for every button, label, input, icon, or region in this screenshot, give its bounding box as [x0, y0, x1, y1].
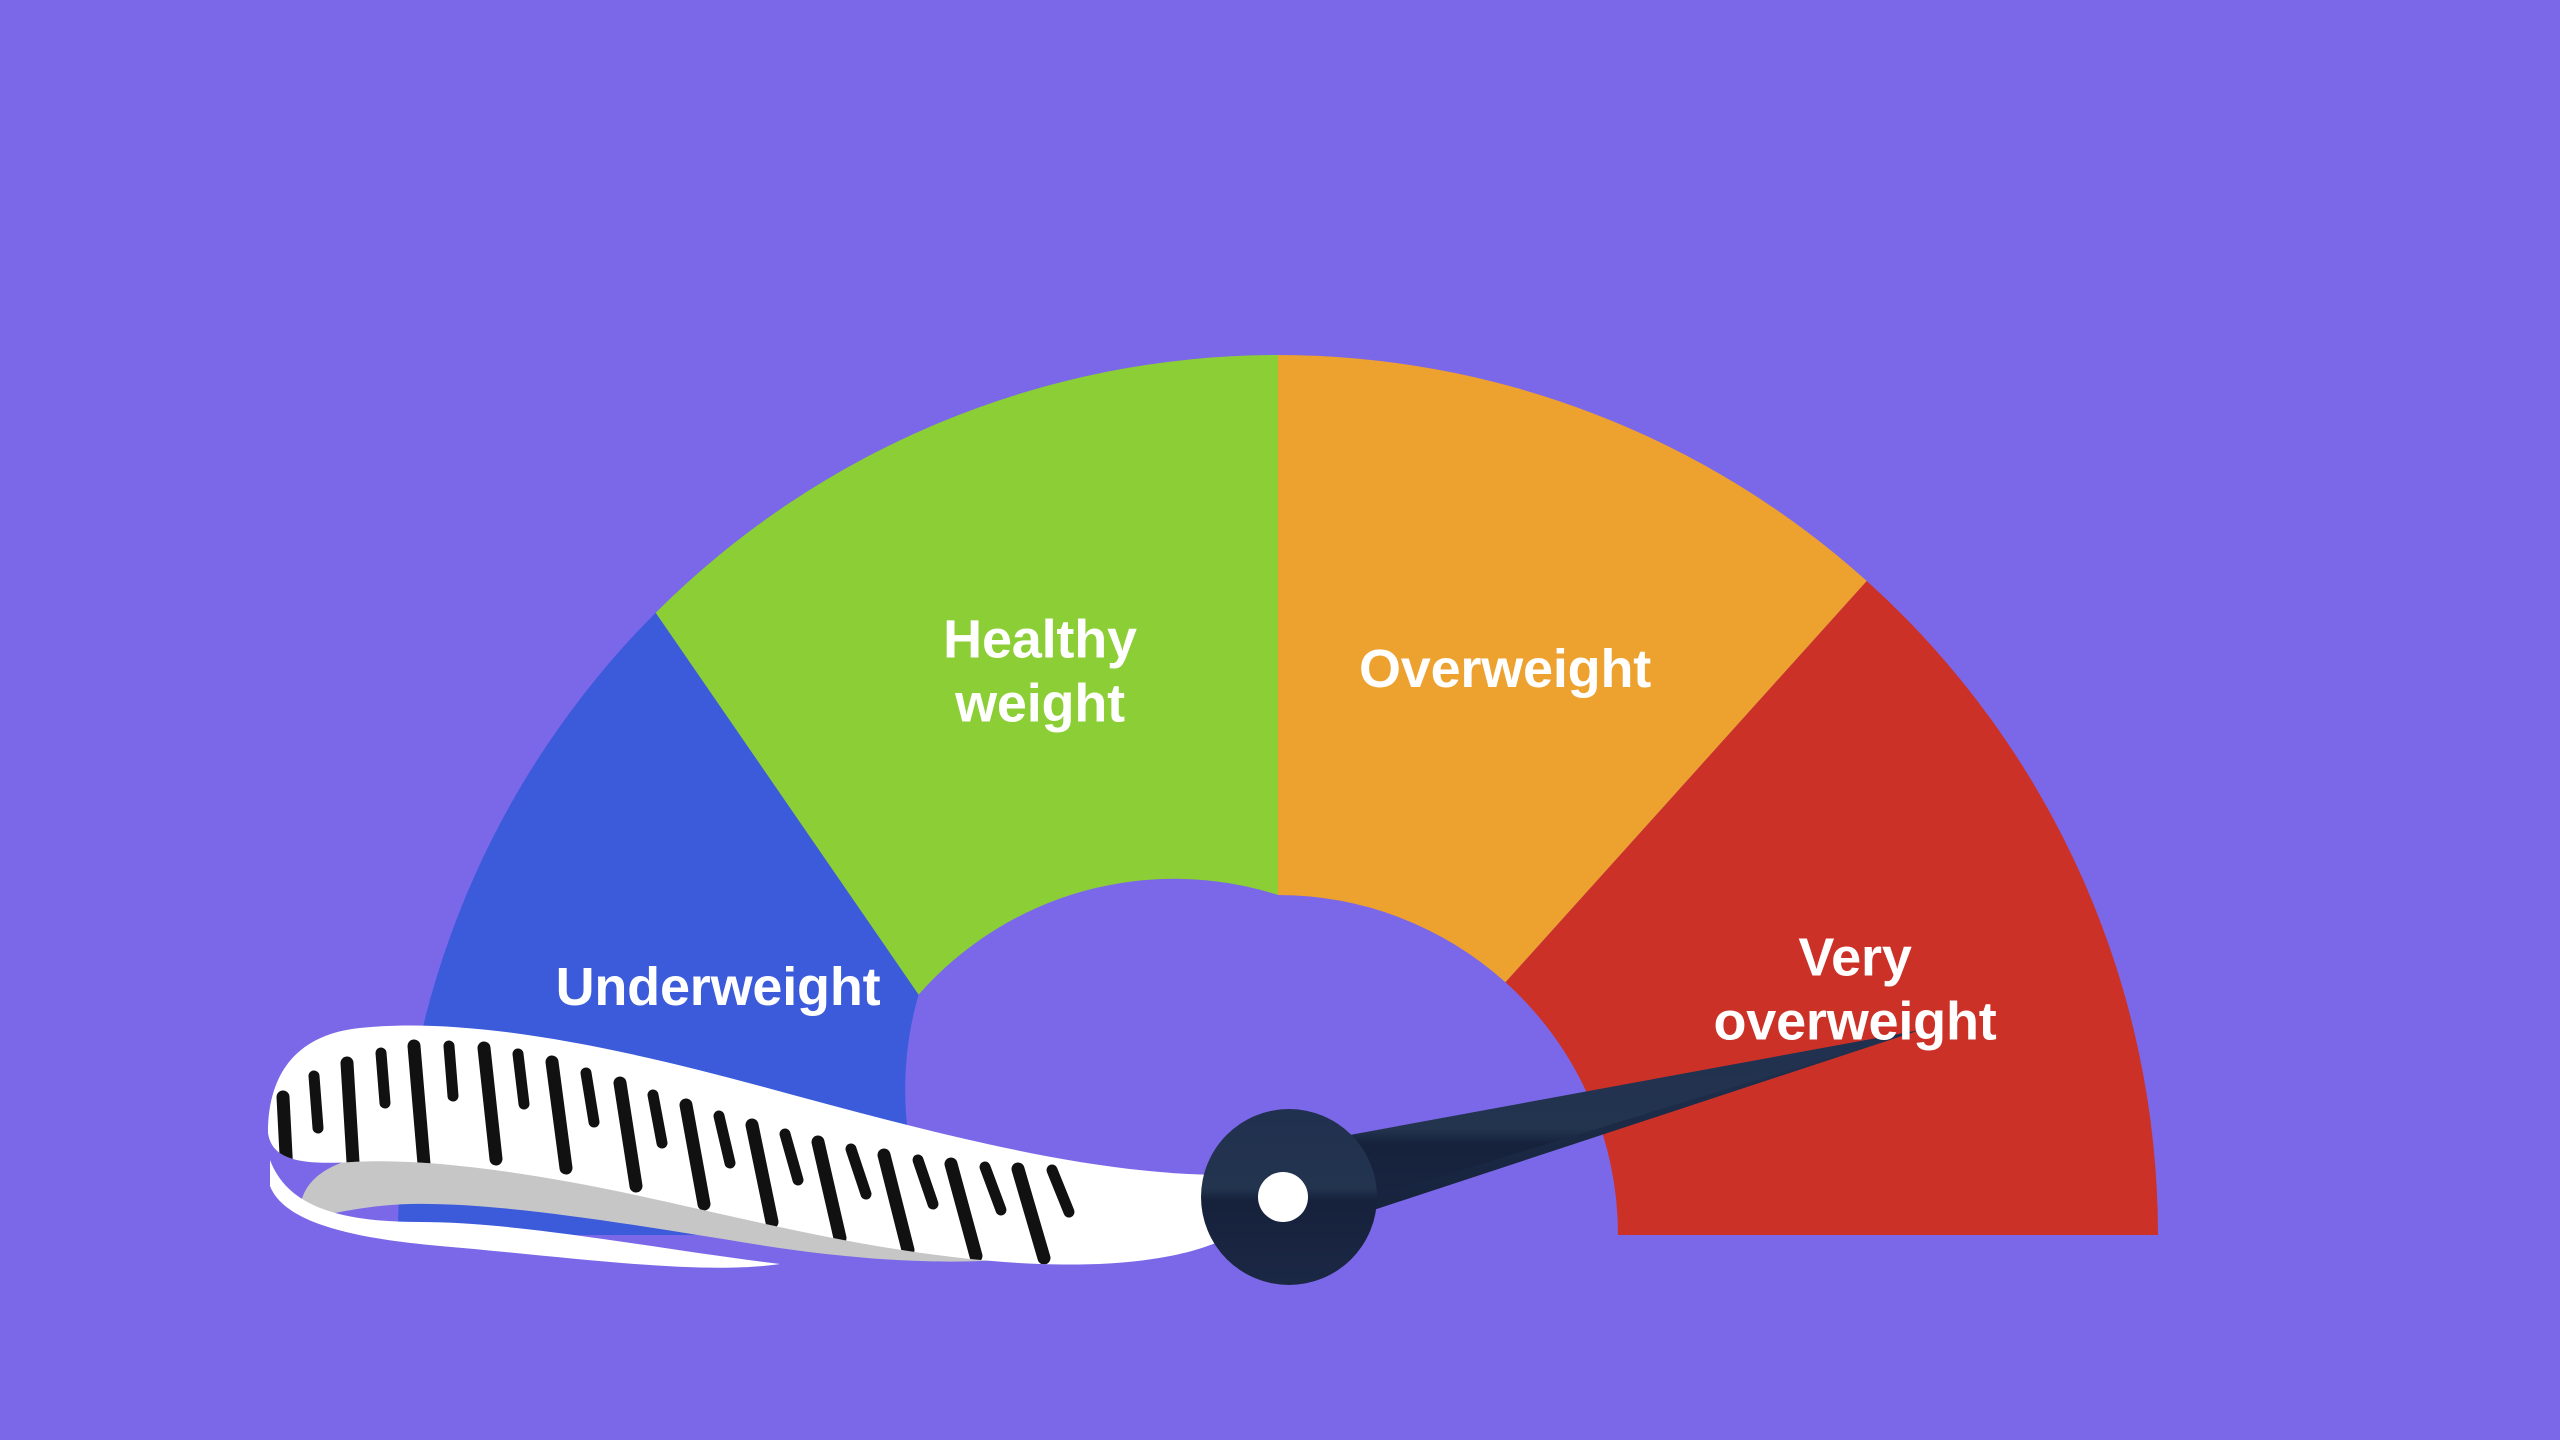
gauge-canvas: Underweight Healthy weight Overweight Ve… [0, 0, 2560, 1440]
needle-pivot-dot [1258, 1172, 1308, 1222]
bmi-gauge-svg [0, 0, 2560, 1440]
